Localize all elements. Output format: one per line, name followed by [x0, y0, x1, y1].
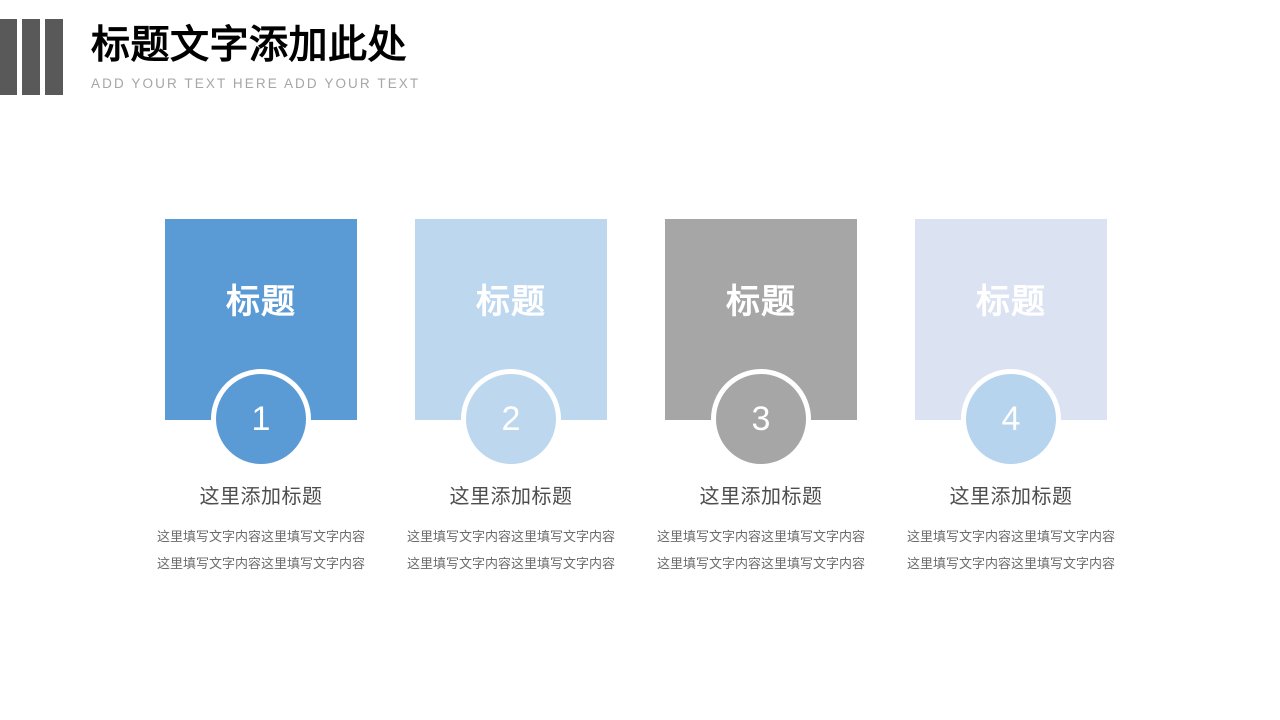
card-body-1: 这里填写文字内容这里填写文字内容这里填写文字内容这里填写文字内容: [157, 523, 365, 577]
card-badge-wrap-4: 4: [961, 369, 1061, 469]
title-block: 标题文字添加此处 ADD YOUR TEXT HERE ADD YOUR TEX…: [91, 22, 420, 91]
card-column-1[interactable]: 标题 1 这里添加标题 这里填写文字内容这里填写文字内容这里填写文字内容这里填写…: [165, 219, 357, 577]
card-column-4[interactable]: 标题 4 这里添加标题 这里填写文字内容这里填写文字内容这里填写文字内容这里填写…: [915, 219, 1107, 577]
card-body-2: 这里填写文字内容这里填写文字内容这里填写文字内容这里填写文字内容: [407, 523, 615, 577]
header-bar-2-icon: [22, 19, 40, 95]
card-panel-label-1: 标题: [226, 282, 296, 322]
card-title-3: 这里添加标题: [700, 483, 823, 511]
card-badge-wrap-1: 1: [211, 369, 311, 469]
card-number-badge-3: 3: [711, 369, 811, 469]
header-bars-decoration: [0, 19, 64, 95]
card-panel-label-3: 标题: [726, 282, 796, 322]
cards-row: 标题 1 这里添加标题 这里填写文字内容这里填写文字内容这里填写文字内容这里填写…: [165, 219, 1115, 577]
card-body-3: 这里填写文字内容这里填写文字内容这里填写文字内容这里填写文字内容: [657, 523, 865, 577]
card-title-2: 这里添加标题: [450, 483, 573, 511]
card-number-badge-2: 2: [461, 369, 561, 469]
card-badge-wrap-3: 3: [711, 369, 811, 469]
page-subtitle: ADD YOUR TEXT HERE ADD YOUR TEXT: [91, 76, 420, 91]
card-title-1: 这里添加标题: [200, 483, 323, 511]
card-body-4: 这里填写文字内容这里填写文字内容这里填写文字内容这里填写文字内容: [907, 523, 1115, 577]
card-number-badge-4: 4: [961, 369, 1061, 469]
slide-header: 标题文字添加此处 ADD YOUR TEXT HERE ADD YOUR TEX…: [0, 0, 1280, 130]
card-badge-wrap-2: 2: [461, 369, 561, 469]
card-column-2[interactable]: 标题 2 这里添加标题 这里填写文字内容这里填写文字内容这里填写文字内容这里填写…: [415, 219, 607, 577]
card-panel-label-2: 标题: [476, 282, 546, 322]
card-number-badge-1: 1: [211, 369, 311, 469]
header-bar-3-icon: [45, 19, 63, 95]
page-title: 标题文字添加此处: [91, 22, 420, 70]
card-panel-label-4: 标题: [976, 282, 1046, 322]
card-column-3[interactable]: 标题 3 这里添加标题 这里填写文字内容这里填写文字内容这里填写文字内容这里填写…: [665, 219, 857, 577]
card-title-4: 这里添加标题: [950, 483, 1073, 511]
header-bar-1-icon: [0, 19, 17, 95]
